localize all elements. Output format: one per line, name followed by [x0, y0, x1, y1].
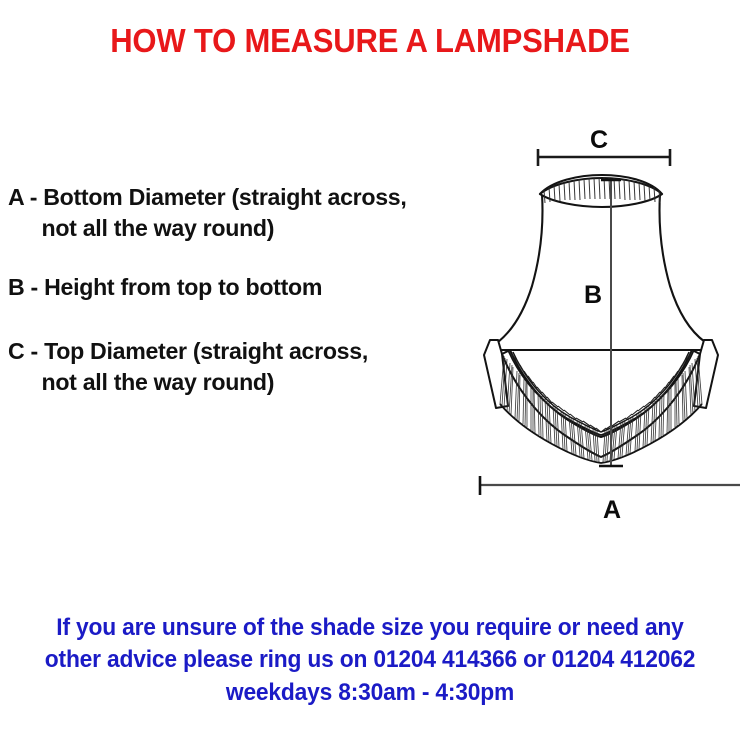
legend-item-b-line1: B - Height from top to bottom — [8, 272, 461, 303]
page-title: HOW TO MEASURE A LAMPSHADE — [22, 22, 718, 60]
dimension-label-c: C — [590, 128, 608, 153]
footer-line-2: other advice please ring us on 01204 414… — [19, 644, 722, 676]
page-root: HOW TO MEASURE A LAMPSHADE A - Bottom Di… — [0, 0, 740, 736]
legend-item-a-line2: not all the way round) — [8, 213, 461, 244]
lampshade-diagram: C B A — [460, 118, 740, 538]
contact-footer: If you are unsure of the shade size you … — [0, 612, 740, 709]
legend-item-b: B - Height from top to bottom — [8, 272, 461, 303]
dimension-label-b: B — [584, 283, 602, 308]
legend-item-c: C - Top Diameter (straight across, not a… — [8, 336, 461, 399]
legend-item-a-line1: A - Bottom Diameter (straight across, — [8, 182, 461, 213]
lampshade-body — [498, 175, 705, 350]
dimension-label-a: A — [603, 498, 621, 523]
footer-line-3: weekdays 8:30am - 4:30pm — [19, 677, 722, 709]
legend-item-c-line1: C - Top Diameter (straight across, — [8, 336, 461, 367]
lampshade-illustration-svg — [460, 118, 740, 538]
legend-item-a: A - Bottom Diameter (straight across, no… — [8, 182, 461, 245]
shade-silhouette — [498, 194, 705, 350]
measurement-legend: A - Bottom Diameter (straight across, no… — [8, 182, 468, 425]
footer-line-1: If you are unsure of the shade size you … — [19, 612, 722, 644]
fringe-band — [502, 350, 700, 457]
legend-item-c-line2: not all the way round) — [8, 367, 461, 398]
